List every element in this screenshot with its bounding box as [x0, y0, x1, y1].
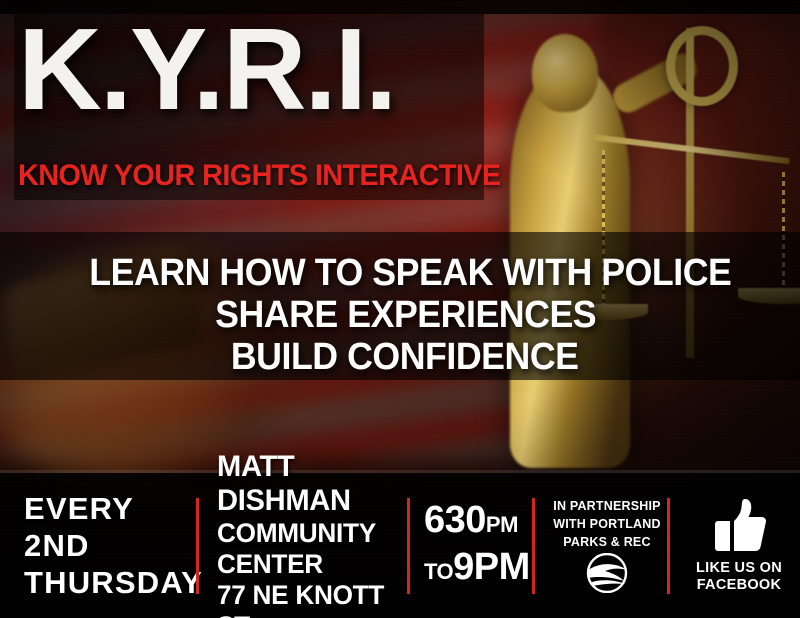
subtitle-wrap: KNOW YOUR RIGHTS INTERACTIVE	[18, 160, 488, 192]
venue-block: MATT DISHMAN COMMUNITY CENTER 77 NE KNOT…	[199, 450, 407, 618]
venue-line-1: MATT DISHMAN	[217, 450, 401, 518]
time-start: 630PM	[424, 499, 532, 546]
social-line-2: FACEBOOK	[697, 577, 782, 594]
info-bar: EVERY 2ND THURSDAY MATT DISHMAN COMMUNIT…	[0, 473, 800, 618]
facebook-thumbs-up-icon[interactable]	[710, 497, 768, 553]
statue-head	[532, 34, 598, 112]
social-block[interactable]: LIKE US ON FACEBOOK	[670, 497, 800, 594]
time-start-number: 630	[424, 499, 486, 541]
message-line-1: LEARN HOW TO SPEAK WITH POLICE	[24, 252, 776, 294]
venue-line-3: 77 NE KNOTT ST.	[217, 580, 401, 618]
time-end: TO9PM	[424, 546, 532, 593]
poster-image: K.Y.R.I. KNOW YOUR RIGHTS INTERACTIVE LE…	[0, 0, 800, 618]
portland-parks-rec-logo-icon	[576, 553, 638, 593]
social-line-1: LIKE US ON	[696, 560, 782, 577]
schedule-line-1: EVERY 2ND	[24, 490, 196, 564]
subtitle: KNOW YOUR RIGHTS INTERACTIVE	[18, 160, 469, 192]
page-title: K.Y.R.I.	[18, 10, 484, 128]
message-block: LEARN HOW TO SPEAK WITH POLICE SHARE EXP…	[0, 252, 800, 378]
message-line-3: BUILD CONFIDENCE	[24, 336, 776, 378]
venue-line-2: COMMUNITY CENTER	[217, 518, 401, 580]
schedule-block: EVERY 2ND THURSDAY	[0, 490, 196, 601]
time-start-suffix: PM	[486, 512, 518, 537]
time-end-prefix: TO	[424, 559, 453, 584]
scale-ring	[666, 26, 738, 106]
partner-block: IN PARTNERSHIP WITH PORTLAND PARKS & REC	[535, 499, 667, 593]
schedule-line-2: THURSDAY	[24, 564, 196, 601]
partner-line-2: WITH PORTLAND	[553, 517, 660, 531]
time-end-number: 9PM	[453, 546, 530, 588]
message-line-2: SHARE EXPERIENCES	[24, 294, 776, 336]
partner-line-1: IN PARTNERSHIP	[553, 499, 660, 513]
time-block: 630PM TO9PM	[410, 499, 532, 593]
partner-line-3: PARKS & REC	[563, 535, 650, 549]
